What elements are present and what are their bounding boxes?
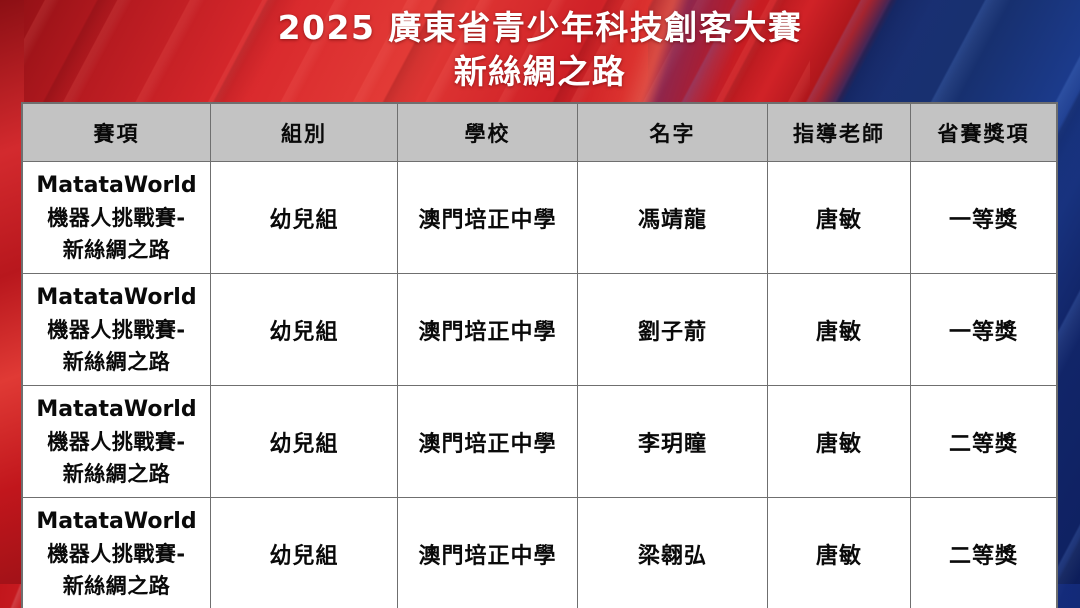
cell-name: 李玥瞳 [578, 386, 768, 498]
event-zh-line-1: 機器人挑戰賽- [23, 314, 210, 346]
cell-teacher: 唐敏 [768, 498, 911, 608]
column-header-group: 組別 [211, 104, 398, 162]
cell-group: 幼兒組 [211, 162, 398, 274]
cell-award: 二等獎 [911, 498, 1057, 608]
event-latin-label: MatataWorld [23, 282, 210, 314]
column-header-award: 省賽獎項 [911, 104, 1057, 162]
event-latin-label: MatataWorld [23, 170, 210, 202]
table-header: 賽項 組別 學校 名字 指導老師 省賽獎項 [23, 104, 1057, 162]
cell-event: MatataWorld 機器人挑戰賽- 新絲綢之路 [23, 162, 211, 274]
event-zh-line-2: 新絲綢之路 [23, 346, 210, 378]
cell-teacher: 唐敏 [768, 386, 911, 498]
cell-school: 澳門培正中學 [398, 274, 578, 386]
column-header-event: 賽項 [23, 104, 211, 162]
cell-name: 馮靖龍 [578, 162, 768, 274]
cell-group: 幼兒組 [211, 274, 398, 386]
background-left-edge [0, 0, 24, 608]
award-table-container: 賽項 組別 學校 名字 指導老師 省賽獎項 MatataWorld 機器人挑戰賽… [22, 103, 1056, 608]
cell-teacher: 唐敏 [768, 274, 911, 386]
event-zh-line-1: 機器人挑戰賽- [23, 202, 210, 234]
cell-award: 一等獎 [911, 162, 1057, 274]
event-zh-line-1: 機器人挑戰賽- [23, 538, 210, 570]
event-latin-label: MatataWorld [23, 394, 210, 426]
table-body: MatataWorld 機器人挑戰賽- 新絲綢之路 幼兒組 澳門培正中學 馮靖龍… [23, 162, 1057, 608]
event-zh-line-2: 新絲綢之路 [23, 458, 210, 490]
cell-teacher: 唐敏 [768, 162, 911, 274]
award-table: 賽項 組別 學校 名字 指導老師 省賽獎項 MatataWorld 機器人挑戰賽… [22, 103, 1057, 608]
cell-school: 澳門培正中學 [398, 498, 578, 608]
cell-school: 澳門培正中學 [398, 386, 578, 498]
cell-event: MatataWorld 機器人挑戰賽- 新絲綢之路 [23, 386, 211, 498]
slide-canvas: 2025 廣東省青少年科技創客大賽 新絲綢之路 賽項 組別 學校 名字 指導老師… [0, 0, 1080, 608]
cell-award: 一等獎 [911, 274, 1057, 386]
table-row: MatataWorld 機器人挑戰賽- 新絲綢之路 幼兒組 澳門培正中學 梁翱弘… [23, 498, 1057, 608]
table-row: MatataWorld 機器人挑戰賽- 新絲綢之路 幼兒組 澳門培正中學 劉子葥… [23, 274, 1057, 386]
cell-name: 梁翱弘 [578, 498, 768, 608]
column-header-school: 學校 [398, 104, 578, 162]
cell-award: 二等獎 [911, 386, 1057, 498]
column-header-teacher: 指導老師 [768, 104, 911, 162]
cell-event: MatataWorld 機器人挑戰賽- 新絲綢之路 [23, 274, 211, 386]
cell-event: MatataWorld 機器人挑戰賽- 新絲綢之路 [23, 498, 211, 608]
event-zh-line-1: 機器人挑戰賽- [23, 426, 210, 458]
table-row: MatataWorld 機器人挑戰賽- 新絲綢之路 幼兒組 澳門培正中學 李玥瞳… [23, 386, 1057, 498]
table-row: MatataWorld 機器人挑戰賽- 新絲綢之路 幼兒組 澳門培正中學 馮靖龍… [23, 162, 1057, 274]
cell-group: 幼兒組 [211, 386, 398, 498]
table-header-row: 賽項 組別 學校 名字 指導老師 省賽獎項 [23, 104, 1057, 162]
cell-name: 劉子葥 [578, 274, 768, 386]
cell-school: 澳門培正中學 [398, 162, 578, 274]
event-zh-line-2: 新絲綢之路 [23, 234, 210, 266]
column-header-name: 名字 [578, 104, 768, 162]
event-latin-label: MatataWorld [23, 506, 210, 538]
cell-group: 幼兒組 [211, 498, 398, 608]
event-zh-line-2: 新絲綢之路 [23, 570, 210, 602]
